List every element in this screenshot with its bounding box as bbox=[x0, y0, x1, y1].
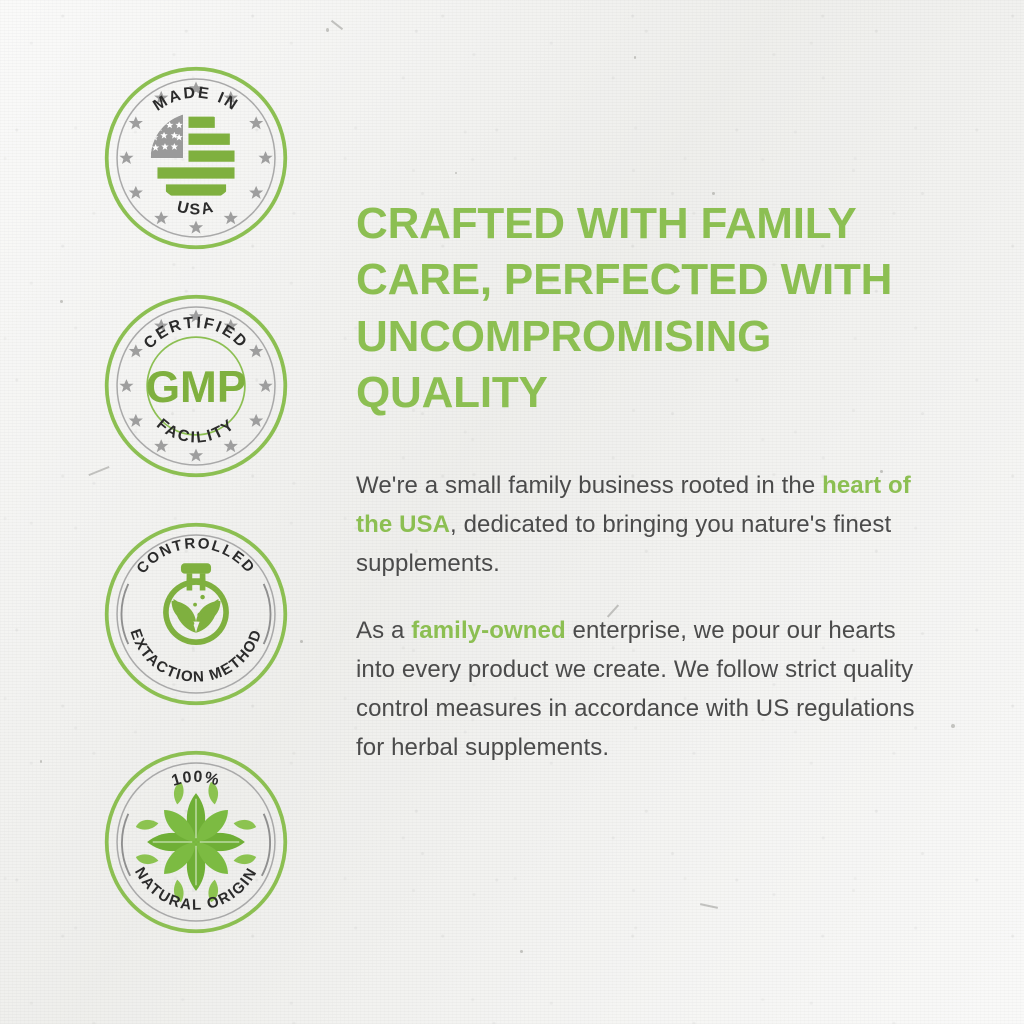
badge-natural-origin: 100% NATURAL ORIGIN bbox=[102, 748, 290, 936]
badge-bottom-label: FACILITY bbox=[153, 416, 239, 447]
badge-bottom-label: USA bbox=[175, 199, 217, 219]
flask-with-leaves-icon bbox=[166, 563, 226, 642]
paragraph-two: As a family-owned enterprise, we pour ou… bbox=[356, 612, 936, 768]
badge-top-label: 100% bbox=[170, 769, 222, 790]
badge-gmp-certified: GMP CERTIFIED FACILITY bbox=[102, 292, 290, 480]
paragraph-one: We're a small family business rooted in … bbox=[356, 467, 936, 584]
badge-controlled-extraction: CONTROLLED EXTACTION METHOD bbox=[102, 520, 290, 708]
badge-made-in-usa: MADE IN USA bbox=[102, 64, 290, 252]
usa-flag-circle-icon bbox=[151, 113, 235, 196]
content-column: CRAFTED WITH FAMILY CARE, PERFECTED WITH… bbox=[356, 196, 936, 767]
paragraph-one-before: We're a small family business rooted in … bbox=[356, 472, 822, 499]
decorative-arc-left bbox=[122, 814, 130, 876]
badge-top-label: MADE IN bbox=[150, 85, 241, 115]
decorative-arc-right bbox=[264, 584, 271, 644]
decorative-arc-right bbox=[262, 814, 270, 876]
paragraph-two-before: As a bbox=[356, 617, 411, 644]
trust-badges-page: MADE IN USA bbox=[0, 0, 1024, 1024]
decorative-arc-left bbox=[121, 584, 128, 644]
gmp-text-icon: GMP bbox=[146, 363, 247, 412]
badge-top-label: CERTIFIED bbox=[141, 314, 251, 352]
page-headline: CRAFTED WITH FAMILY CARE, PERFECTED WITH… bbox=[356, 196, 936, 421]
paragraph-two-highlight: family-owned bbox=[411, 617, 566, 644]
badge-column: MADE IN USA bbox=[96, 64, 296, 936]
